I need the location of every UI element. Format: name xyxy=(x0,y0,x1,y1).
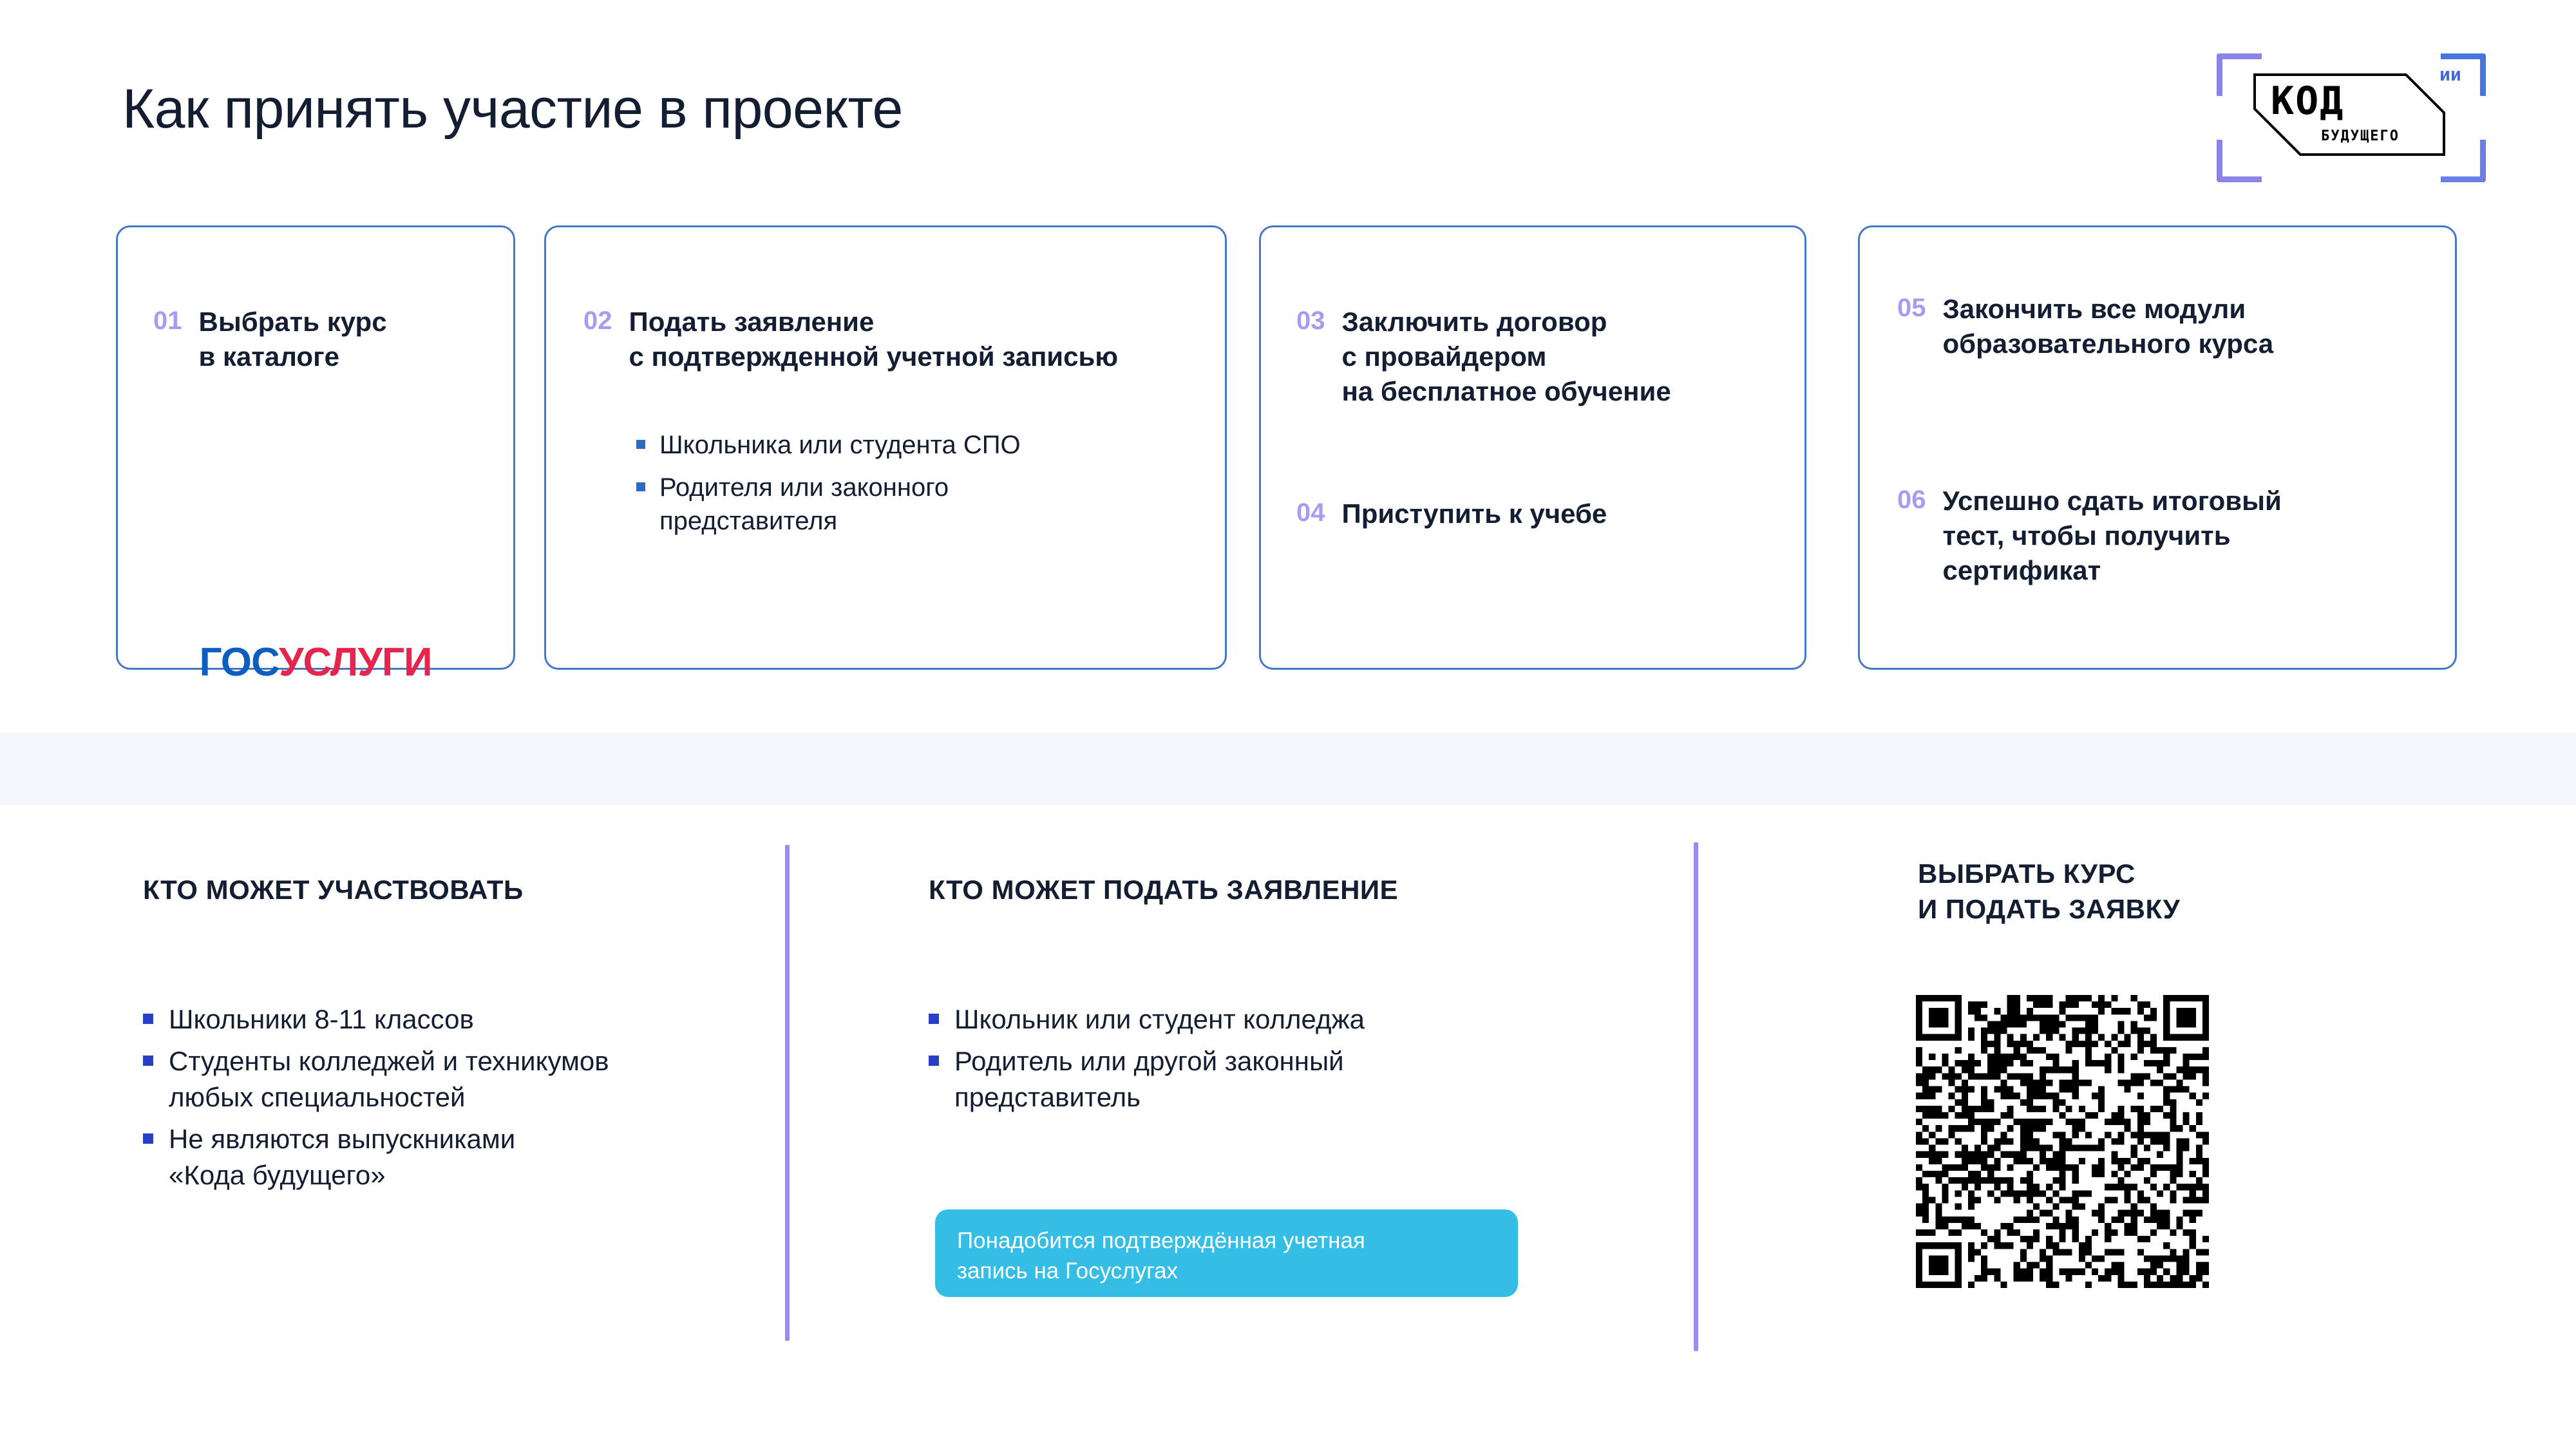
step-04: 04 Приступить к учебе xyxy=(1296,497,1607,531)
bullet-square-icon xyxy=(929,1014,939,1024)
column-1-list: Школьники 8-11 классов Студенты колледже… xyxy=(143,1001,761,1199)
list-item-label: Школьника или студента СПО xyxy=(659,428,1021,462)
list-item-label: Не являются выпускниками «Кода будущего» xyxy=(169,1121,515,1193)
step-number: 04 xyxy=(1296,497,1325,529)
section-divider-band xyxy=(0,733,2576,805)
list-item-label: Школьники 8-11 классов xyxy=(169,1001,474,1037)
logo-subtitle: БУДУЩЕГО xyxy=(2321,129,2400,144)
step-number: 01 xyxy=(153,305,182,337)
bullet-square-icon xyxy=(143,1056,153,1066)
step-text: Успешно сдать итоговый тест, чтобы получ… xyxy=(1943,484,2282,587)
list-item: Родитель или другой законный представите… xyxy=(929,1043,1624,1115)
step-02-sublist: Школьника или студента СПО Родителя или … xyxy=(636,428,1203,547)
step-01: 01 Выбрать курс в каталоге xyxy=(153,305,387,374)
step-text: Подать заявление с подтвержденной учетно… xyxy=(629,305,1119,374)
logo-wordmark: КОД xyxy=(2271,82,2344,120)
logo-ai-badge: ии xyxy=(2439,66,2461,84)
gosuslugi-blue-part: ГОС xyxy=(199,640,279,685)
gosuslugi-red-part: УСЛУГИ xyxy=(279,640,432,685)
step-05: 05 Закончить все модули образовательного… xyxy=(1897,292,2273,361)
bullet-square-icon xyxy=(143,1133,153,1144)
step-text: Закончить все модули образовательного ку… xyxy=(1943,292,2274,361)
list-item-label: Родитель или другой законный представите… xyxy=(954,1043,1344,1115)
step-text: Приступить к учебе xyxy=(1342,497,1607,531)
step-card-2: 02 Подать заявление с подтвержденной уче… xyxy=(544,225,1227,670)
step-number: 05 xyxy=(1897,292,1926,324)
bullet-square-icon xyxy=(636,482,645,491)
bullet-square-icon xyxy=(636,440,645,449)
column-2-heading: КТО МОЖЕТ ПОДАТЬ ЗАЯВЛЕНИЕ xyxy=(929,873,1398,908)
step-number: 02 xyxy=(583,305,612,337)
list-item-label: Школьник или студент колледжа xyxy=(954,1001,1365,1037)
column-1-heading: КТО МОЖЕТ УЧАСТВОВАТЬ xyxy=(143,873,524,908)
step-card-1: 01 Выбрать курс в каталоге ГОСУСЛУГИ xyxy=(116,225,515,670)
list-item: Студенты колледжей и техникумов любых сп… xyxy=(143,1043,761,1115)
list-item-label: Родителя или законного представителя xyxy=(659,471,949,538)
step-02: 02 Подать заявление с подтвержденной уче… xyxy=(583,305,1118,374)
step-06: 06 Успешно сдать итоговый тест, чтобы по… xyxy=(1897,484,2282,587)
list-item: Родителя или законного представителя xyxy=(636,471,1203,538)
column-2-list: Школьник или студент колледжа Родитель и… xyxy=(929,1001,1624,1121)
step-03: 03 Заключить договор с провайдером на бе… xyxy=(1296,305,1671,408)
list-item: Школьника или студента СПО xyxy=(636,428,1203,462)
brand-logo: КОД БУДУЩЕГО ии xyxy=(2215,35,2486,184)
list-item: Не являются выпускниками «Кода будущего» xyxy=(143,1121,761,1193)
step-number: 03 xyxy=(1296,305,1325,337)
column-divider-2 xyxy=(1694,842,1698,1351)
list-item-label: Студенты колледжей и техникумов любых сп… xyxy=(169,1043,609,1115)
list-item: Школьник или студент колледжа xyxy=(929,1001,1624,1037)
bullet-square-icon xyxy=(143,1014,153,1024)
step-card-3: 03 Заключить договор с провайдером на бе… xyxy=(1259,225,1806,670)
step-text: Заключить договор с провайдером на беспл… xyxy=(1342,305,1671,408)
gosuslugi-account-callout: Понадобится подтверждённая учетная запис… xyxy=(935,1209,1518,1297)
column-3-heading: ВЫБРАТЬ КУРС И ПОДАТЬ ЗАЯВКУ xyxy=(1918,857,2180,927)
bracket-bottom-right-icon xyxy=(2441,140,2486,182)
page-title: Как принять участие в проекте xyxy=(122,77,903,141)
step-card-4: 05 Закончить все модули образовательного… xyxy=(1858,225,2457,670)
step-text: Выбрать курс в каталоге xyxy=(199,305,387,374)
gosuslugi-logo: ГОСУСЛУГИ xyxy=(199,639,431,685)
qr-code-canvas[interactable] xyxy=(1916,995,2209,1288)
column-divider-1 xyxy=(785,845,790,1341)
qr-code[interactable] xyxy=(1916,995,2209,1288)
bullet-square-icon xyxy=(929,1056,939,1066)
list-item: Школьники 8-11 классов xyxy=(143,1001,761,1037)
step-number: 06 xyxy=(1897,484,1926,516)
